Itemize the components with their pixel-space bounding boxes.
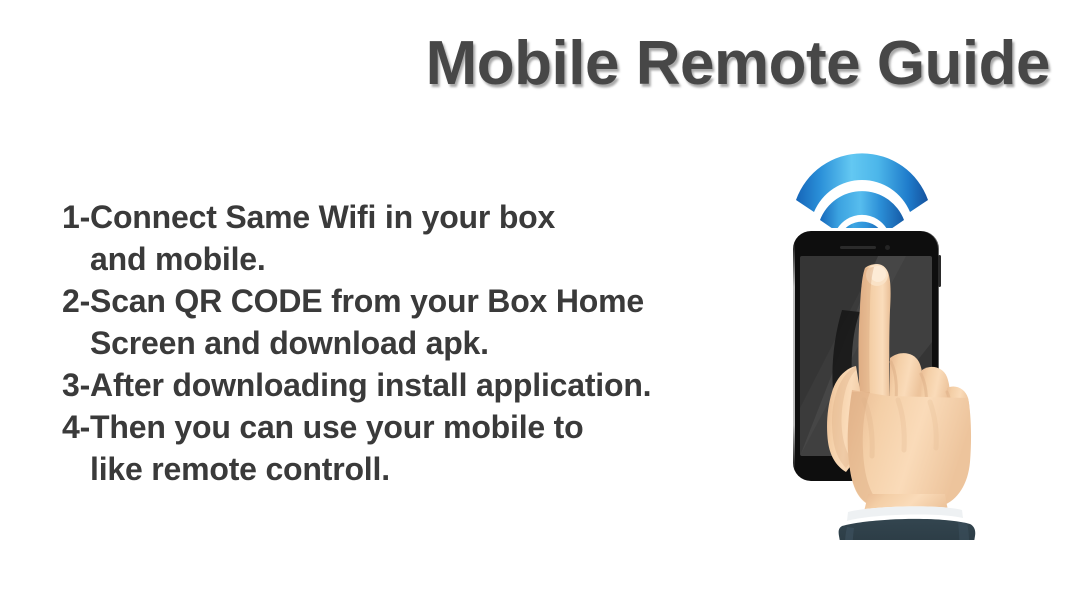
- wifi-signal-icon: [782, 128, 942, 228]
- instruction-list: 1-Connect Same Wifi in your box and mobi…: [62, 196, 762, 490]
- pointing-hand: [790, 250, 980, 540]
- index-finger: [859, 264, 891, 400]
- back-of-hand: [848, 390, 971, 506]
- list-item: and mobile.: [62, 238, 762, 280]
- list-item: like remote controll.: [62, 448, 762, 490]
- list-item: 1-Connect Same Wifi in your box: [62, 196, 762, 238]
- list-item: Screen and download apk.: [62, 322, 762, 364]
- list-item: 4-Then you can use your mobile to: [62, 406, 762, 448]
- page-title: Mobile Remote Guide: [400, 28, 1050, 99]
- phone-earpiece-speaker: [840, 246, 876, 249]
- guide-slide: Mobile Remote Guide 1-Connect Same Wifi …: [0, 0, 1080, 600]
- illustration: [770, 120, 1000, 540]
- list-item: 2-Scan QR CODE from your Box Home: [62, 280, 762, 322]
- list-item: 3-After downloading install application.: [62, 364, 762, 406]
